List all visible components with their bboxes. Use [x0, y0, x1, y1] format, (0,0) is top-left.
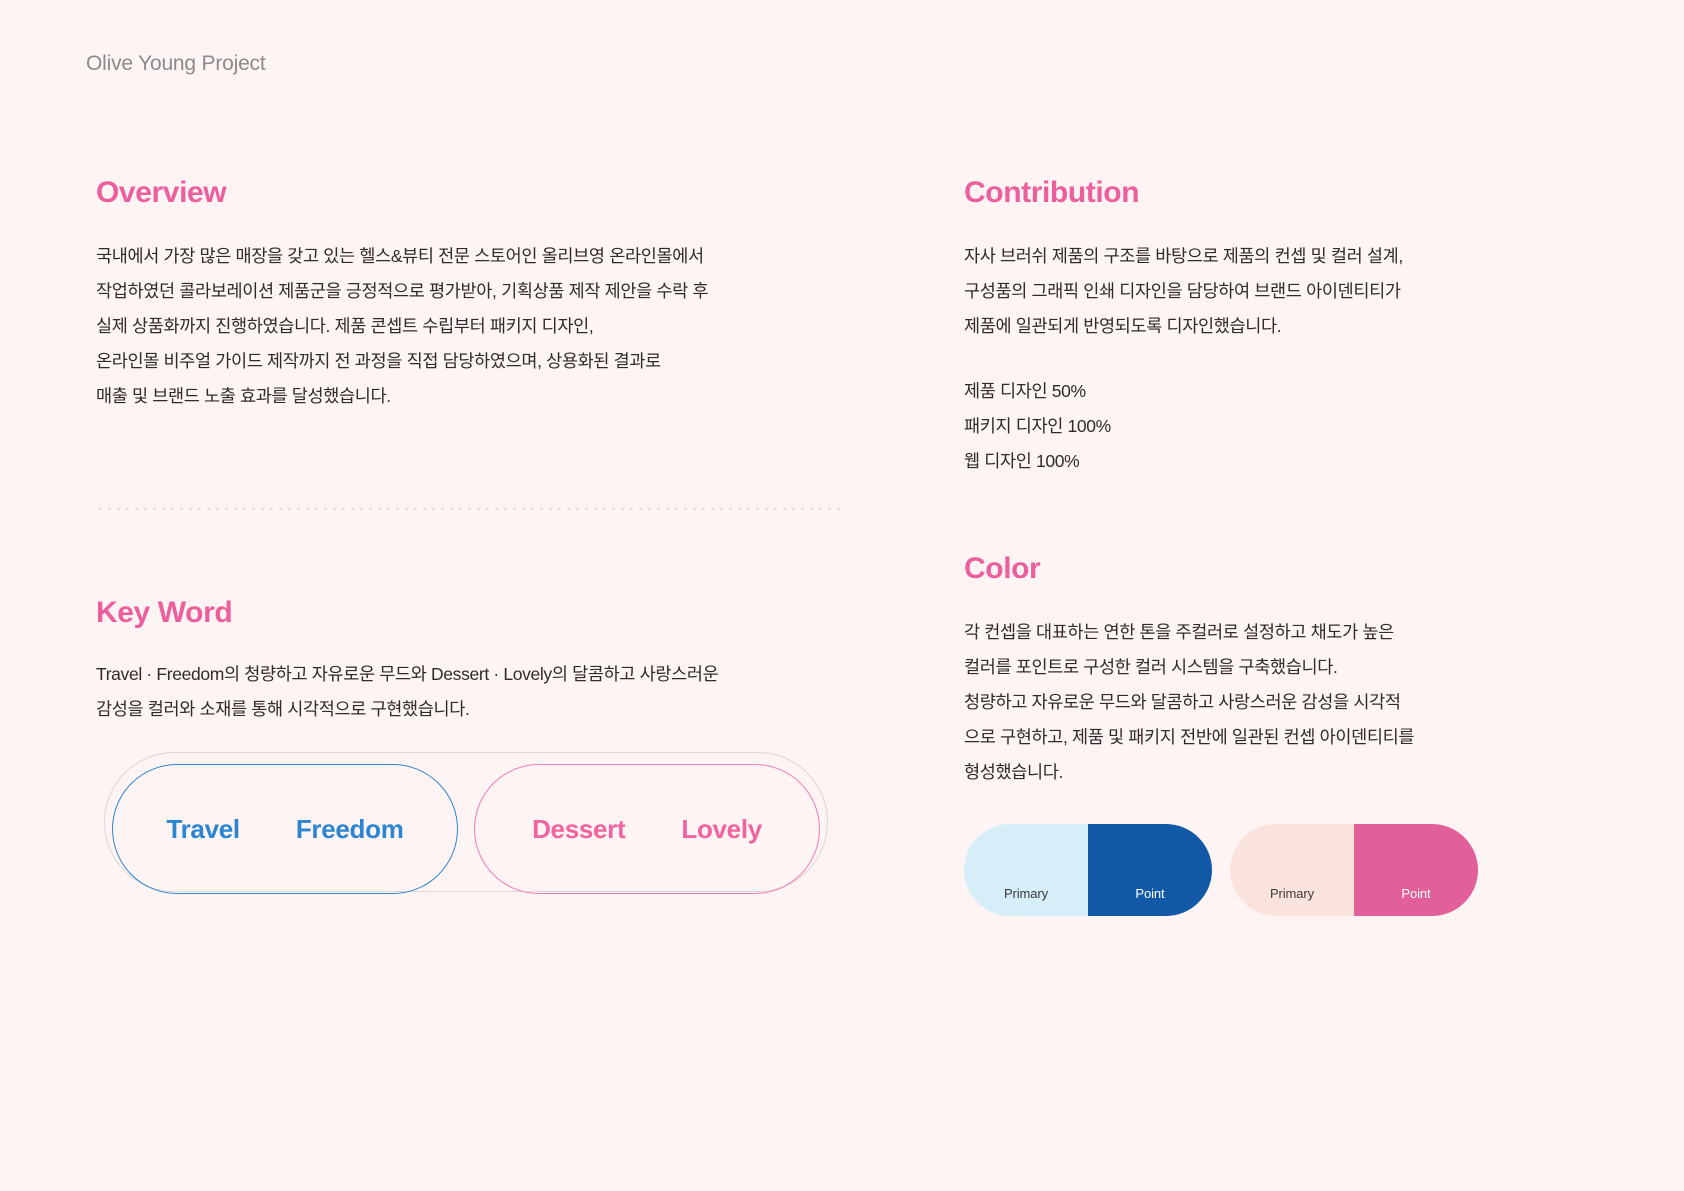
overview-line: 작업하였던 콜라보레이션 제품군을 긍정적으로 평가받아, 기획상품 제작 제안…	[96, 274, 836, 309]
keyword-section: Key Word Travel · Freedom의 청량하고 자유로운 무드와…	[96, 596, 836, 727]
contribution-line: 자사 브러쉬 제품의 구조를 바탕으로 제품의 컨셉 및 컬러 설계,	[964, 239, 1504, 274]
swatch-primary-label: Primary	[1004, 887, 1048, 900]
color-line: 형성했습니다.	[964, 755, 1504, 790]
overview-line: 온라인몰 비주얼 가이드 제작까지 전 과정을 직접 담당하였으며, 상용화된 …	[96, 344, 836, 379]
color-section: Color 각 컨셉을 대표하는 연한 톤을 주컬러로 설정하고 채도가 높은 …	[964, 552, 1504, 790]
contribution-line: 구성품의 그래픽 인쇄 디자인을 담당하여 브랜드 아이덴티티가	[964, 274, 1504, 309]
color-swatch-cool-blue: Primary Point	[964, 824, 1212, 916]
keyword-heading: Key Word	[96, 596, 836, 629]
dotted-divider	[96, 508, 840, 510]
keyword-word-dessert: Dessert	[532, 816, 625, 842]
color-heading: Color	[964, 552, 1504, 585]
swatch-point-label: Point	[1401, 887, 1430, 900]
swatch-primary-cool: Primary	[964, 824, 1088, 916]
swatch-primary-label: Primary	[1270, 887, 1314, 900]
overview-line: 매출 및 브랜드 노출 효과를 달성했습니다.	[96, 379, 836, 414]
color-line: 각 컨셉을 대표하는 연한 톤을 주컬러로 설정하고 채도가 높은	[964, 615, 1504, 650]
keyword-body: Travel · Freedom의 청량하고 자유로운 무드와 Dessert …	[96, 657, 836, 727]
project-title: Olive Young Project	[86, 52, 266, 76]
overview-line: 국내에서 가장 많은 매장을 갖고 있는 헬스&뷰티 전문 스토어인 올리브영 …	[96, 239, 836, 274]
color-body: 각 컨셉을 대표하는 연한 톤을 주컬러로 설정하고 채도가 높은 컬러를 포인…	[964, 615, 1504, 790]
swatch-point-label: Point	[1135, 887, 1164, 900]
keyword-pill-dessert-lovely[interactable]: Dessert Lovely	[474, 764, 820, 894]
contribution-section: Contribution 자사 브러쉬 제품의 구조를 바탕으로 제품의 컨셉 …	[964, 176, 1504, 479]
contribution-heading: Contribution	[964, 176, 1504, 209]
color-swatch-row: Primary Point Primary Point	[964, 824, 1478, 916]
swatch-point-cool: Point	[1088, 824, 1212, 916]
color-line: 청량하고 자유로운 무드와 달콤하고 사랑스러운 감성을 시각적	[964, 685, 1504, 720]
keyword-word-freedom: Freedom	[296, 816, 404, 842]
contribution-stat-item: 웹 디자인 100%	[964, 444, 1504, 479]
contribution-line: 제품에 일관되게 반영되도록 디자인했습니다.	[964, 309, 1504, 344]
overview-line: 실제 상품화까지 진행하였습니다. 제품 콘셉트 수립부터 패키지 디자인,	[96, 309, 836, 344]
overview-heading: Overview	[96, 176, 836, 209]
color-line: 으로 구현하고, 제품 및 패키지 전반에 일관된 컨셉 아이덴티티를	[964, 720, 1504, 755]
keyword-word-lovely: Lovely	[681, 816, 762, 842]
overview-section: Overview 국내에서 가장 많은 매장을 갖고 있는 헬스&뷰티 전문 스…	[96, 176, 836, 414]
presentation-slide: Olive Young Project Overview 국내에서 가장 많은 …	[0, 0, 1684, 1191]
overview-body: 국내에서 가장 많은 매장을 갖고 있는 헬스&뷰티 전문 스토어인 올리브영 …	[96, 239, 836, 414]
keyword-pill-travel-freedom[interactable]: Travel Freedom	[112, 764, 458, 894]
contribution-stat-item: 제품 디자인 50%	[964, 374, 1504, 409]
contribution-body: 자사 브러쉬 제품의 구조를 바탕으로 제품의 컨셉 및 컬러 설계, 구성품의…	[964, 239, 1504, 344]
contribution-stat-item: 패키지 디자인 100%	[964, 409, 1504, 444]
contribution-stat-list: 제품 디자인 50% 패키지 디자인 100% 웹 디자인 100%	[964, 374, 1504, 479]
keyword-pill-group: Travel Freedom Dessert Lovely	[104, 752, 828, 892]
keyword-line: Travel · Freedom의 청량하고 자유로운 무드와 Dessert …	[96, 657, 836, 692]
swatch-primary-sweet: Primary	[1230, 824, 1354, 916]
color-swatch-sweet-pink: Primary Point	[1230, 824, 1478, 916]
swatch-point-sweet: Point	[1354, 824, 1478, 916]
keyword-word-travel: Travel	[166, 816, 239, 842]
color-line: 컬러를 포인트로 구성한 컬러 시스템을 구축했습니다.	[964, 650, 1504, 685]
keyword-line: 감성을 컬러와 소재를 통해 시각적으로 구현했습니다.	[96, 692, 836, 727]
